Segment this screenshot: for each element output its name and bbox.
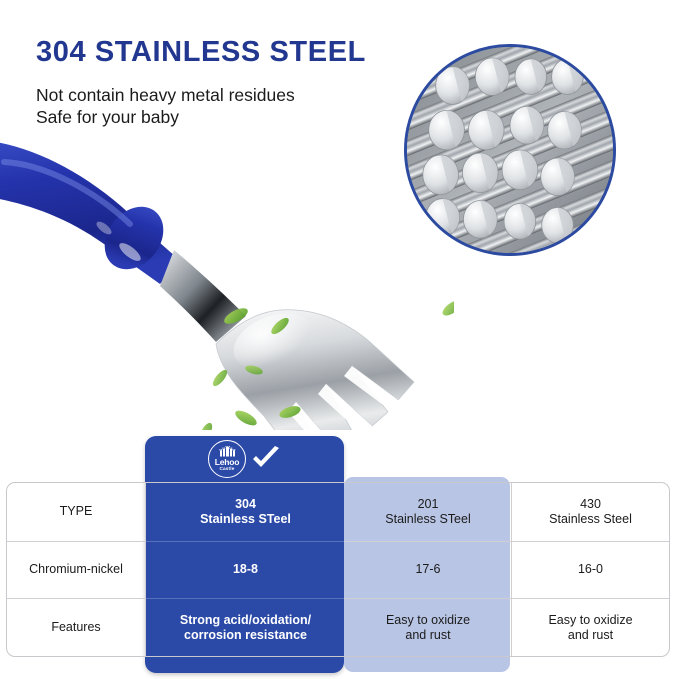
page-title: 304 STAINLESS STEEL xyxy=(36,36,366,69)
cell-430-features: Easy to oxidize and rust xyxy=(511,598,669,656)
lehoo-castle-logo: Lehoo Castle xyxy=(208,440,246,478)
cell-201-chromium-nickel: 17-6 xyxy=(345,541,511,599)
table-grid: TYPE 304 Stainless STeel 201 Stainless S… xyxy=(6,482,670,657)
row-label-type: TYPE xyxy=(7,483,146,541)
cell-201-type: 201 Stainless STeel xyxy=(345,483,511,541)
cell-304-type: 304 Stainless STeel xyxy=(146,483,345,541)
row-label-chromium-nickel: Chromium-nickel xyxy=(7,541,146,599)
cell-304-chromium-nickel: 18-8 xyxy=(146,541,345,599)
castle-icon xyxy=(219,446,236,457)
cell-201-features: Easy to oxidize and rust xyxy=(345,598,511,656)
comparison-table: Lehoo Castle TYPE 304 Stainless STeel 20… xyxy=(0,430,679,679)
brand-badge-group: Lehoo Castle xyxy=(145,438,344,480)
cell-304-features: Strong acid/oxidation/ corrosion resista… xyxy=(146,598,345,656)
brand-sub: Castle xyxy=(220,467,235,472)
cell-430-type: 430 Stainless Steel xyxy=(511,483,669,541)
cell-430-chromium-nickel: 16-0 xyxy=(511,541,669,599)
fork-illustration xyxy=(0,120,454,430)
row-label-features: Features xyxy=(7,598,146,656)
fork-svg xyxy=(0,120,454,430)
check-mark-icon xyxy=(251,446,281,472)
